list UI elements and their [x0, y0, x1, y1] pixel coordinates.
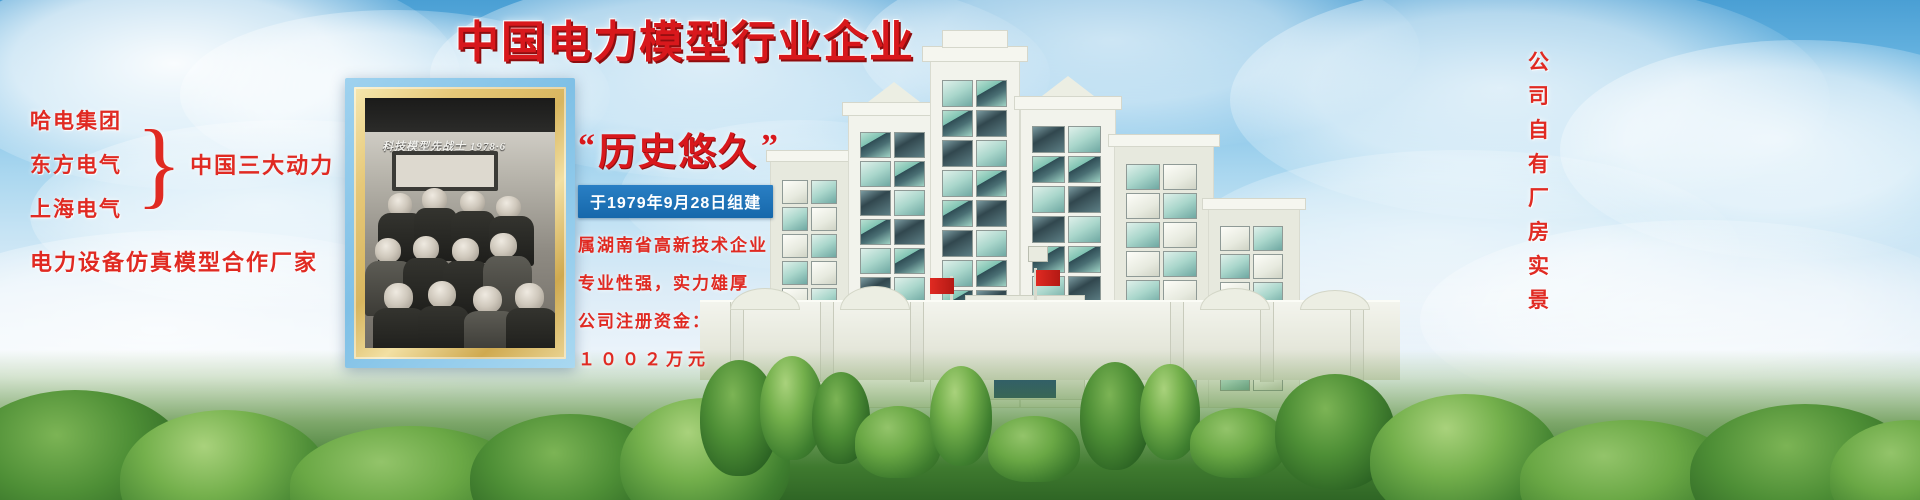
building-roof-cap: [1108, 134, 1220, 147]
vertical-caption-char: 有: [1528, 154, 1549, 175]
history-detail-line: 属湖南省高新技术企业: [578, 231, 818, 256]
quote-open-mark: “: [578, 130, 595, 164]
bush-shape: [1190, 408, 1286, 478]
air-conditioner-unit: [1028, 246, 1048, 262]
building-pediment: [1042, 76, 1094, 96]
red-flag-icon: [1036, 270, 1060, 286]
list-item: 东方电气: [30, 149, 122, 179]
curly-brace-icon: }: [136, 125, 182, 204]
group-photo-image: 科技模型先战士 1978·6: [365, 98, 555, 348]
vertical-caption-char: 司: [1528, 86, 1549, 107]
quote-close-mark: ”: [761, 130, 778, 164]
history-headline: 历史悠久: [598, 134, 758, 172]
list-item: 哈电集团: [30, 105, 122, 135]
building-roof-cap: [1014, 96, 1122, 110]
tree-shape: [930, 366, 992, 466]
partners-list: 哈电集团 东方电气 上海电气: [30, 105, 122, 223]
partners-footer: 电力设备仿真模型合作厂家: [30, 245, 370, 277]
vertical-caption-char: 实: [1528, 256, 1549, 277]
bush-shape: [988, 416, 1080, 482]
founding-date-badge: 于1979年9月28日组建: [578, 185, 773, 218]
partners-block: 哈电集团 东方电气 上海电气 } 中国三大动力 电力设备仿真模型合作厂家: [30, 105, 370, 277]
page-title: 中国电力模型行业企业: [455, 6, 925, 70]
partners-summary: 中国三大动力: [190, 148, 334, 180]
bush-shape: [855, 406, 941, 478]
building-roof-cap: [1202, 198, 1306, 210]
vertical-caption-char: 景: [1528, 290, 1549, 311]
vertical-caption: 公 司 自 有 厂 房 实 景: [1528, 52, 1549, 311]
vertical-caption-char: 房: [1528, 222, 1549, 243]
vertical-caption-char: 公: [1528, 52, 1549, 73]
photo-frame-gold-mat: 科技模型先战士 1978·6: [354, 87, 566, 359]
history-highlight-block: “ 历史悠久 ” 于1979年9月28日组建 属湖南省高新技术企业 专业性强，实…: [578, 130, 818, 370]
building-roof-cap: [922, 46, 1028, 62]
building-pediment: [868, 82, 920, 102]
history-detail-line: 公司注册资金：: [578, 307, 818, 332]
vertical-caption-char: 厂: [1528, 188, 1549, 209]
photo-wall-panel: [392, 151, 498, 191]
promo-banner: 中国电力模型行业企业 哈电集团 东方电气 上海电气 } 中国三大动力 电力设备仿…: [0, 0, 1920, 500]
framed-historic-photo: 科技模型先战士 1978·6: [345, 78, 575, 368]
photo-frame-inner: 科技模型先战士 1978·6: [365, 98, 555, 348]
photo-banner-strip: [365, 98, 555, 132]
partners-row: 哈电集团 东方电气 上海电气 } 中国三大动力: [30, 105, 370, 223]
history-detail-line: 专业性强，实力雄厚: [578, 269, 818, 294]
registered-capital-value: １００２万元: [578, 345, 818, 370]
vertical-caption-char: 自: [1528, 120, 1549, 141]
red-flag-icon: [930, 278, 954, 294]
list-item: 上海电气: [30, 193, 122, 223]
history-quote-line: “ 历史悠久 ”: [578, 130, 818, 172]
building-roof-finial: [942, 30, 1008, 48]
